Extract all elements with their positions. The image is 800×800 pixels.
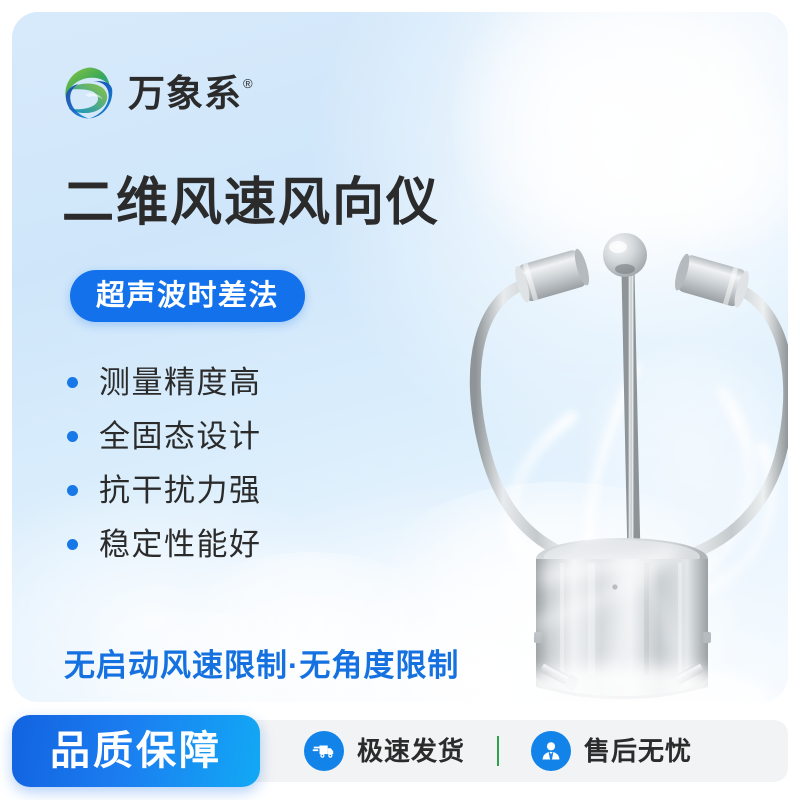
anemometer-product-image [382,217,788,702]
service-strip: 极速发货 售后无忧 [238,720,788,782]
service-label: 极速发货 [357,738,465,764]
hero-card: 万象系 ® 二维风速风向仪 超声波时差法 测量精度高 全固态设计 抗干扰力强 [12,12,788,702]
feature-label: 测量精度高 [99,367,262,398]
product-poster: 万象系 ® 二维风速风向仪 超声波时差法 测量精度高 全固态设计 抗干扰力强 [0,0,800,800]
list-item: 全固态设计 [67,421,262,452]
feature-label: 抗干扰力强 [99,475,262,506]
bullet-dot-icon [67,539,78,550]
bottom-service-bar: 品质保障 极速发货 [12,714,788,788]
service-label: 售后无忧 [584,738,692,764]
technology-badge-label: 超声波时差法 [96,282,279,311]
service-item-fast-shipping: 极速发货 [278,731,491,771]
quality-guarantee-label: 品质保障 [50,731,222,771]
customer-service-person-icon [531,731,571,771]
list-item: 测量精度高 [67,367,262,398]
feature-list: 测量精度高 全固态设计 抗干扰力强 稳定性能好 [67,367,262,560]
brand-logo: 万象系 ® [60,64,253,122]
divider [497,736,499,766]
delivery-truck-icon [304,731,344,771]
technology-badge: 超声波时差法 [70,270,305,322]
registered-trademark-icon: ® [243,77,253,90]
bullet-dot-icon [67,377,78,388]
bullet-dot-icon [67,431,78,442]
bullet-dot-icon [67,485,78,496]
feature-label: 稳定性能好 [99,529,262,560]
brand-name: 万象系 [128,75,242,112]
list-item: 稳定性能好 [67,529,262,560]
quality-guarantee-badge: 品质保障 [12,715,260,787]
service-item-after-sales: 售后无忧 [505,731,718,771]
list-item: 抗干扰力强 [67,475,262,506]
globe-swirl-logo-icon [60,64,118,122]
tagline: 无启动风速限制·无角度限制 [64,640,459,685]
page-title: 二维风速风向仪 [62,175,440,232]
feature-label: 全固态设计 [99,421,262,452]
